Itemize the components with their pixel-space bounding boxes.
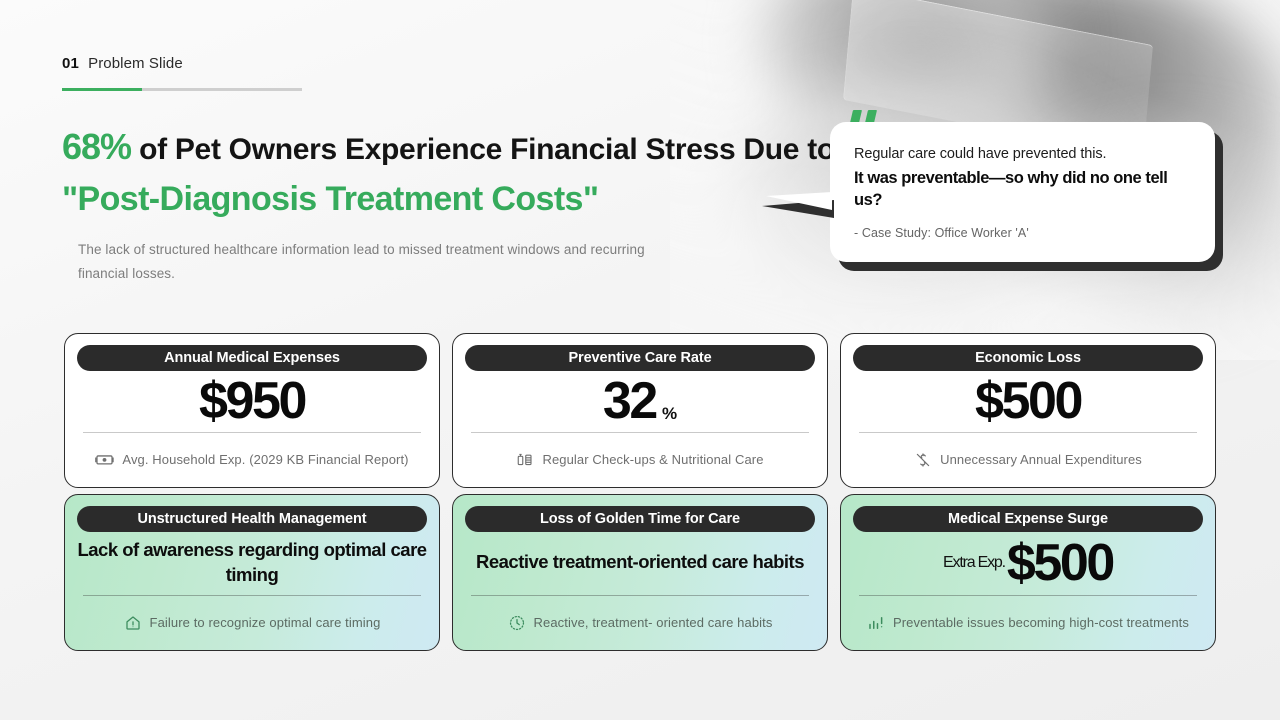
stat-card: Unstructured Health Management Lack of a… [64,494,440,651]
card-value: $500 [975,375,1081,427]
headline-stat: 68% [62,126,131,167]
dotted-clock-icon [508,614,526,632]
slide-eyebrow: 01 Problem Slide [62,55,183,72]
card-value-prefix: Extra Exp. [943,554,1005,572]
card-footnote: Reactive, treatment- oriented care habit… [534,614,773,632]
card-value: 32 [603,375,656,427]
no-money-icon [914,451,932,469]
card-footnote: Unnecessary Annual Expenditures [940,451,1142,469]
slide-number: 01 [62,55,79,72]
eyebrow-progress-rule [62,88,302,91]
headline-line2: "Post-Diagnosis Treatment Costs" [62,178,802,221]
slide-canvas: 01 Problem Slide 68% of Pet Owners Exper… [0,0,1280,720]
page-title: 68% of Pet Owners Experience Financial S… [62,122,802,220]
banknote-icon [95,450,114,469]
card-title: Loss of Golden Time for Care [465,506,815,532]
stat-card: Preventive Care Rate 32 % Regular Check-… [452,333,828,488]
testimonial-quote: Regular care could have prevented this. … [830,110,1215,262]
quote-line-1: Regular care could have prevented this. [854,146,1189,162]
card-title: Preventive Care Rate [465,345,815,371]
vaccine-vial-icon [516,451,534,469]
stat-card: Medical Expense Surge Extra Exp. $500 Pr… [840,494,1216,651]
headline-line1-rest: of Pet Owners Experience Financial Stres… [131,133,835,166]
bar-chart-alert-icon [867,614,885,632]
card-value: $950 [199,375,305,427]
slide-label: Problem Slide [88,55,183,72]
card-title: Annual Medical Expenses [77,345,427,371]
card-phrase: Lack of awareness regarding optimal care… [77,538,427,588]
card-title: Unstructured Health Management [77,506,427,532]
card-title: Medical Expense Surge [853,506,1203,532]
quote-tail [766,192,832,210]
card-phrase: Reactive treatment-oriented care habits [476,550,804,575]
card-footnote: Avg. Household Exp. (2029 KB Financial R… [122,451,408,469]
quote-line-2: It was preventable—so why did no one tel… [854,167,1189,212]
stat-card: Annual Medical Expenses $950 Avg. Househ… [64,333,440,488]
subheading-copy: The lack of structured healthcare inform… [78,238,678,285]
home-alert-icon [124,614,142,632]
card-footnote: Failure to recognize optimal care timing [150,614,381,632]
card-title: Economic Loss [853,345,1203,371]
stat-card: Loss of Golden Time for Care Reactive tr… [452,494,828,651]
card-footnote: Regular Check-ups & Nutritional Care [542,451,763,469]
stat-card-grid: Annual Medical Expenses $950 Avg. Househ… [64,333,1216,651]
card-value: $500 [1007,537,1113,589]
quote-attribution: - Case Study: Office Worker 'A' [854,226,1189,240]
stat-card: Economic Loss $500 Unnecessary Annual Ex… [840,333,1216,488]
card-footnote: Preventable issues becoming high-cost tr… [893,614,1189,632]
card-unit: % [662,404,677,424]
